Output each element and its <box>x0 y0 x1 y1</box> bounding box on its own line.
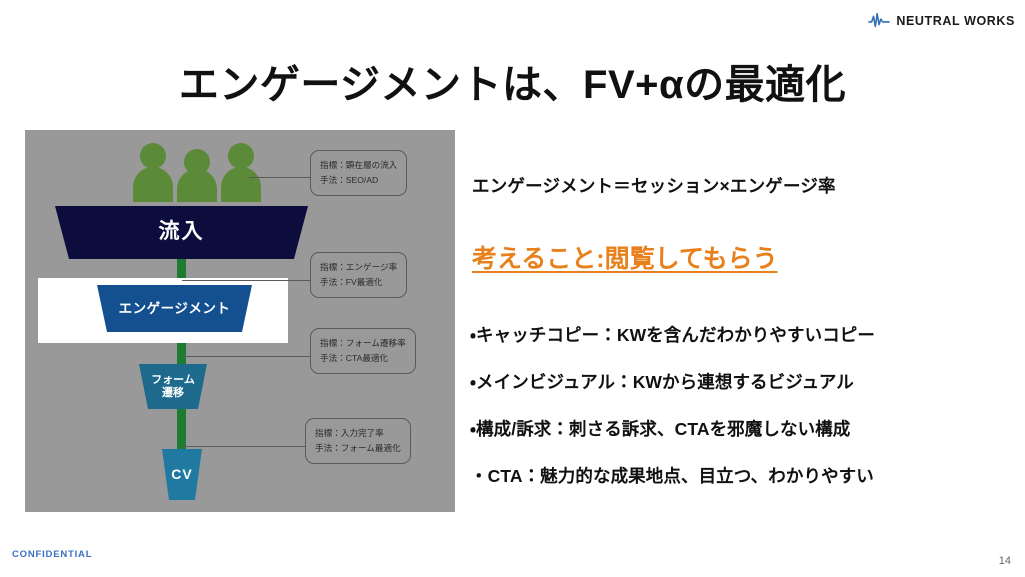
callout-method: 手法：CTA最適化 <box>320 351 406 366</box>
callout-metric: 指標：エンゲージ率 <box>320 260 397 275</box>
brand-logo: NEUTRAL WORKS <box>868 11 1015 31</box>
callout-leader-line <box>182 280 311 281</box>
callout-inflow: 指標：顕在層の流入 手法：SEO/AD <box>310 150 407 196</box>
funnel-stage-label: CV <box>171 466 192 482</box>
funnel-stage-label-line2: 遷移 <box>162 387 184 399</box>
funnel-stage-label-line1: フォーム <box>151 374 195 386</box>
funnel-diagram: 流入 エンゲージメント フォーム 遷移 CV <box>25 130 455 512</box>
brand-name: NEUTRAL WORKS <box>896 14 1015 28</box>
list-item: ・CTA：魅力的な成果地点、目立つ、わかりやすい <box>470 463 970 488</box>
list-item: ・メインビジュアル：KWから連想するビジュアル <box>470 369 970 394</box>
confidential-label: CONFIDENTIAL <box>12 549 92 560</box>
slide-canvas: NEUTRAL WORKS エンゲージメントは、FV+αの最適化 <box>0 0 1025 577</box>
callout-leader-line <box>182 356 311 357</box>
three-people-icon <box>129 140 265 202</box>
callout-leader-line <box>249 177 311 178</box>
funnel-stage-label: 流入 <box>159 220 205 244</box>
callout-form-transition: 指標：フォーム遷移率 手法：CTA最適化 <box>310 328 416 374</box>
page-number: 14 <box>999 555 1011 567</box>
list-item: ・構成/訴求：刺さる訴求、CTAを邪魔しない構成 <box>470 416 970 441</box>
section-subhead: 考えること:閲覧してもらう <box>472 239 778 275</box>
callout-method: 手法：FV最適化 <box>320 275 397 290</box>
funnel-stage-engagement: エンゲージメント <box>97 285 252 332</box>
callout-leader-line <box>182 446 306 447</box>
funnel-stage-inflow: 流入 <box>55 206 308 259</box>
callout-method: 手法：SEO/AD <box>320 173 397 188</box>
funnel-stage-form-transition: フォーム 遷移 <box>139 364 207 409</box>
funnel-stage-label: エンゲージメント <box>119 301 231 317</box>
callout-cv: 指標：入力完了率 手法：フォーム最適化 <box>305 418 411 464</box>
waveform-pulse-icon <box>868 11 890 31</box>
list-item: ・キャッチコピー：KWを含んだわかりやすいコピー <box>470 322 970 347</box>
funnel-stage-cv: CV <box>162 449 202 500</box>
callout-metric: 指標：フォーム遷移率 <box>320 336 406 351</box>
bullet-list: ・キャッチコピー：KWを含んだわかりやすいコピー ・メインビジュアル：KWから連… <box>470 322 970 510</box>
page-title: エンゲージメントは、FV+αの最適化 <box>0 52 1025 110</box>
callout-metric: 指標：顕在層の流入 <box>320 158 397 173</box>
callout-metric: 指標：入力完了率 <box>315 426 401 441</box>
callout-method: 手法：フォーム最適化 <box>315 441 401 456</box>
callout-engagement: 指標：エンゲージ率 手法：FV最適化 <box>310 252 407 298</box>
engagement-formula: エンゲージメント＝セッション×エンゲージ率 <box>472 173 836 198</box>
